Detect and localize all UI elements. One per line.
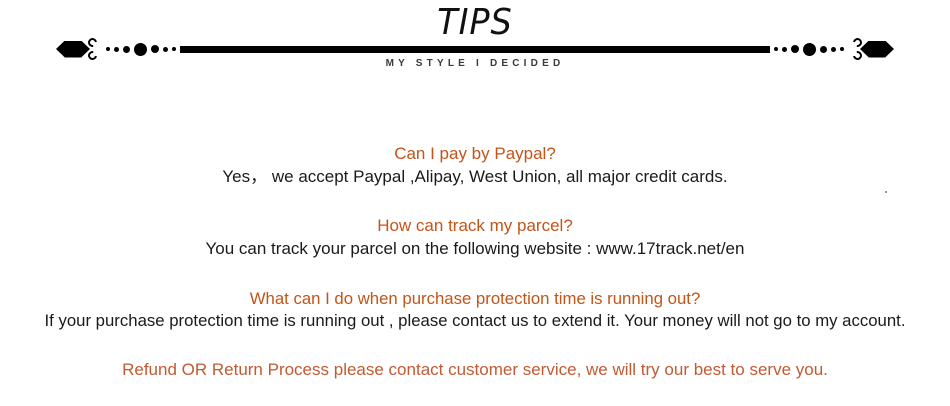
diamond-shape-icon bbox=[56, 41, 90, 58]
diamond-shape-icon bbox=[860, 41, 894, 58]
refund-notice-block: Refund OR Return Process please contact … bbox=[0, 358, 950, 381]
divider-bar bbox=[180, 46, 770, 53]
faq-item-purchase-protection: What can I do when purchase protection t… bbox=[0, 287, 950, 332]
faq-answer: Yes， we accept Paypal ,Alipay, West Unio… bbox=[0, 165, 950, 188]
faq-item-paypal: Can I pay by Paypal? Yes， we accept Payp… bbox=[0, 142, 950, 188]
faq-item-tracking: How can track my parcel? You can track y… bbox=[0, 214, 950, 260]
dot-cluster-icon bbox=[774, 43, 844, 56]
tips-header: TIPS MY STYLE I DECIDED bbox=[0, 0, 950, 88]
faq-answer: If your purchase protection time is runn… bbox=[32, 310, 919, 332]
dot-cluster-icon bbox=[106, 43, 176, 56]
header-subtitle: MY STYLE I DECIDED bbox=[0, 57, 950, 71]
faq-content: Can I pay by Paypal? Yes， we accept Payp… bbox=[0, 88, 950, 381]
faq-question: Can I pay by Paypal? bbox=[0, 142, 950, 165]
image-speck-artifact bbox=[885, 191, 887, 193]
faq-question: What can I do when purchase protection t… bbox=[7, 287, 943, 310]
refund-notice: Refund OR Return Process please contact … bbox=[0, 358, 950, 381]
faq-question: How can track my parcel? bbox=[0, 214, 950, 237]
faq-answer: You can track your parcel on the followi… bbox=[0, 237, 950, 260]
